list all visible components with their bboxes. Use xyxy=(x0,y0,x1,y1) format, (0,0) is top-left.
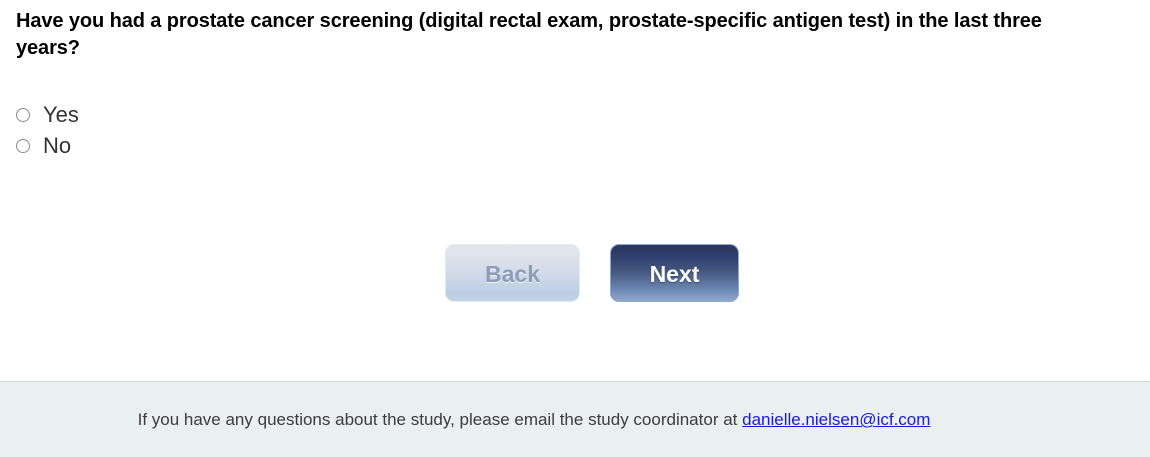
navigation-button-bar: Back Next xyxy=(445,244,739,302)
footer-text-before-link: If you have any questions about the stud… xyxy=(138,410,743,429)
option-label-yes: Yes xyxy=(43,104,79,126)
back-button[interactable]: Back xyxy=(445,244,580,302)
coordinator-email-link[interactable]: danielle.nielsen@icf.com xyxy=(742,410,930,429)
radio-button-no[interactable] xyxy=(16,139,30,153)
option-label-no: No xyxy=(43,135,71,157)
radio-button-yes[interactable] xyxy=(16,108,30,122)
footer-contact-text: If you have any questions about the stud… xyxy=(0,410,1150,430)
option-row-no[interactable]: No xyxy=(16,130,79,161)
next-button[interactable]: Next xyxy=(610,244,739,302)
footer-bar: If you have any questions about the stud… xyxy=(0,381,1150,457)
page-title: Have you had a prostate cancer screening… xyxy=(16,8,1091,62)
survey-page: Have you had a prostate cancer screening… xyxy=(0,0,1150,457)
question-block: Have you had a prostate cancer screening… xyxy=(16,8,1091,62)
option-row-yes[interactable]: Yes xyxy=(16,99,79,130)
answer-options-group: Yes No xyxy=(16,99,79,161)
